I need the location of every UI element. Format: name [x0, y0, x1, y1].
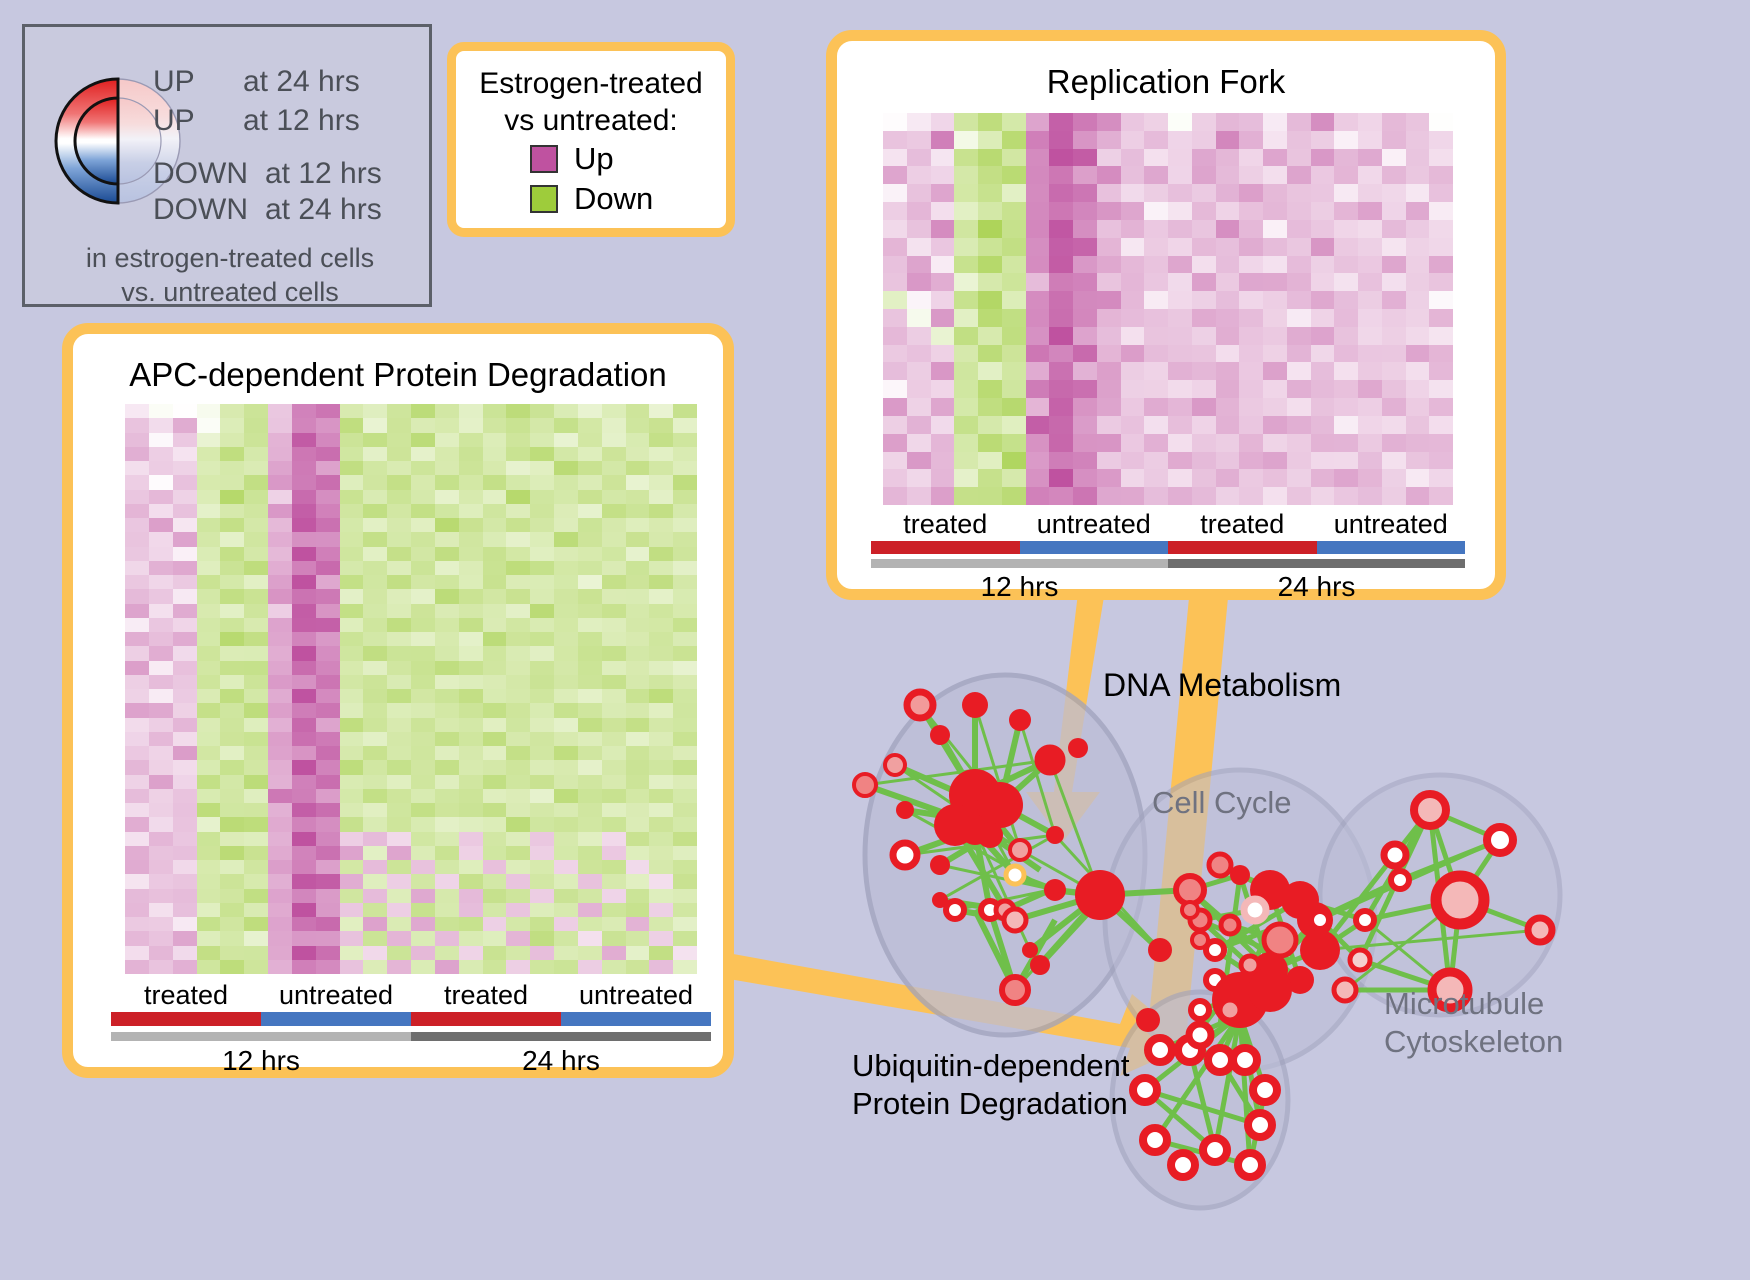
- heatmap-cell: [649, 931, 673, 945]
- heatmap-cell: [1311, 362, 1335, 380]
- heatmap-cell: [1263, 309, 1287, 327]
- heatmap-cell: [435, 703, 459, 717]
- heatmap-cell: [649, 575, 673, 589]
- heatmap-cell: [1073, 362, 1097, 380]
- heatmap-cell: [931, 291, 955, 309]
- heatmap-cell: [530, 931, 554, 945]
- heatmap-cell: [483, 703, 507, 717]
- heatmap-cell: [125, 846, 149, 860]
- heatmap-cell: [292, 547, 316, 561]
- heatmap-cell: [363, 832, 387, 846]
- heatmap-cell: [1287, 398, 1311, 416]
- heatmap-cell: [626, 689, 650, 703]
- heatmap-cell: [220, 618, 244, 632]
- heatmap-cell: [1239, 487, 1263, 505]
- heatmap-cell: [907, 327, 931, 345]
- heatmap-cell: [316, 418, 340, 432]
- heatmap-cell: [483, 760, 507, 774]
- heatmap-cell: [363, 846, 387, 860]
- heatmap-cell: [149, 917, 173, 931]
- heatmap-cell: [435, 618, 459, 632]
- heatmap-cell: [125, 589, 149, 603]
- heatmap-cell: [483, 832, 507, 846]
- heatmap-cell: [125, 404, 149, 418]
- heatmap-cell: [244, 646, 268, 660]
- colorwheel-legend-box: UP at 24 hrs UP at 12 hrs DOWN at 12 hrs…: [22, 24, 432, 307]
- heatmap-cell: [530, 561, 554, 575]
- heatmap-cell: [459, 532, 483, 546]
- heatmap-cell: [125, 760, 149, 774]
- heatmap-cell: [1097, 416, 1121, 434]
- heatmap-cell: [1026, 345, 1050, 363]
- heatmap-cell: [554, 404, 578, 418]
- heatmap-cell: [1144, 487, 1168, 505]
- heatmap-cell: [1026, 487, 1050, 505]
- heatmap-cell: [1239, 291, 1263, 309]
- heatmap-cell: [626, 903, 650, 917]
- heatmap-cell: [649, 746, 673, 760]
- heatmap-cell: [459, 846, 483, 860]
- heatmap-cell: [1358, 362, 1382, 380]
- heatmap-cell: [506, 832, 530, 846]
- heatmap-cell: [626, 931, 650, 945]
- heatmap-cell: [578, 746, 602, 760]
- heatmap-cell: [530, 832, 554, 846]
- heatmap-cell: [1002, 380, 1026, 398]
- heatmap-cell: [483, 661, 507, 675]
- heatmap-cell: [1049, 113, 1073, 131]
- heatmap-cell: [1239, 345, 1263, 363]
- heatmap-cell: [340, 433, 364, 447]
- heatmap-cell: [1311, 327, 1335, 345]
- heatmap-cell: [1192, 220, 1216, 238]
- heatmap-cell: [220, 675, 244, 689]
- heatmap-cell: [883, 184, 907, 202]
- heatmap-cell: [673, 532, 697, 546]
- heatmap-cell: [931, 238, 955, 256]
- heatmap-cell: [673, 547, 697, 561]
- heatmap-cell: [1073, 469, 1097, 487]
- heatmap-cell: [292, 689, 316, 703]
- heatmap-cell: [316, 461, 340, 475]
- heatmap-cell: [1097, 291, 1121, 309]
- heatmap-cell: [1026, 380, 1050, 398]
- heatmap-cell: [1429, 256, 1453, 274]
- heatmap-cell: [673, 775, 697, 789]
- heatmap-cell: [411, 960, 435, 974]
- heatmap-cell: [220, 746, 244, 760]
- heatmap-cell: [1049, 327, 1073, 345]
- heatmap-cell: [149, 604, 173, 618]
- heatmap-cell: [907, 416, 931, 434]
- heatmap-cell: [1263, 273, 1287, 291]
- heatmap-cell: [1121, 166, 1145, 184]
- heatmap-cell: [292, 675, 316, 689]
- heatmap-cell: [1311, 273, 1335, 291]
- heatmap-cell: [435, 675, 459, 689]
- heatmap-cell: [387, 461, 411, 475]
- heatmap-cell: [363, 775, 387, 789]
- heatmap-cell: [340, 846, 364, 860]
- heatmap-cell: [411, 418, 435, 432]
- heatmap-cell: [459, 589, 483, 603]
- heatmap-cell: [173, 946, 197, 960]
- heatmap-cell: [1002, 131, 1026, 149]
- heatmap-cell: [1429, 184, 1453, 202]
- heatmap-cell: [197, 404, 221, 418]
- heatmap-cell: [1073, 238, 1097, 256]
- heatmap-cell: [125, 718, 149, 732]
- heatmap-cell: [649, 675, 673, 689]
- heatmap-cell: [149, 903, 173, 917]
- heatmap-cell: [125, 903, 149, 917]
- heatmap-cell: [197, 832, 221, 846]
- heatmap-cell: [125, 817, 149, 831]
- heatmap-cell: [363, 461, 387, 475]
- heatmap-cell: [1192, 131, 1216, 149]
- heatmap-cell: [268, 518, 292, 532]
- heatmap-cell: [435, 931, 459, 945]
- heatmap-cell: [506, 889, 530, 903]
- heatmap-cell: [1097, 149, 1121, 167]
- heatmap-cell: [1002, 434, 1026, 452]
- heatmap-cell: [1121, 469, 1145, 487]
- heatmap-cell: [1121, 202, 1145, 220]
- heatmap-cell: [292, 789, 316, 803]
- heatmap-cell: [626, 475, 650, 489]
- heatmap-cell: [411, 561, 435, 575]
- heatmap-cell: [1168, 380, 1192, 398]
- heatmap-cell: [268, 404, 292, 418]
- time-labels-replication: 12 hrs 24 hrs: [871, 572, 1465, 602]
- heatmap-cell: [1239, 184, 1263, 202]
- heatmap-cell: [459, 903, 483, 917]
- heatmap-cell: [1073, 434, 1097, 452]
- heatmap-cell: [578, 433, 602, 447]
- heatmap-cell: [554, 604, 578, 618]
- heatmap-cell: [340, 889, 364, 903]
- heatmap-cell: [1406, 291, 1430, 309]
- heatmap-cell: [220, 846, 244, 860]
- heatmap-cell: [244, 518, 268, 532]
- heatmap-cell: [1406, 434, 1430, 452]
- heatmap-cell: [673, 646, 697, 660]
- heatmap-cell: [626, 718, 650, 732]
- heatmap-cell: [602, 846, 626, 860]
- heatmap-cell: [602, 475, 626, 489]
- heatmap-cell: [883, 273, 907, 291]
- heatmap-cell: [1121, 220, 1145, 238]
- heatmap-cell: [1429, 362, 1453, 380]
- heatmap-cell: [1097, 398, 1121, 416]
- heatmap-cell: [506, 732, 530, 746]
- heatmap-cell: [954, 184, 978, 202]
- heatmap-cell: [578, 618, 602, 632]
- heatmap-cell: [506, 946, 530, 960]
- heatmap-cell: [1049, 345, 1073, 363]
- heatmap-cell: [1192, 113, 1216, 131]
- heatmap-cell: [578, 475, 602, 489]
- heatmap-cell: [411, 404, 435, 418]
- heatmap-cell: [978, 149, 1002, 167]
- heatmap-cell: [459, 746, 483, 760]
- heatmap-cell: [506, 675, 530, 689]
- heatmap-cell: [649, 718, 673, 732]
- heatmap-cell: [1239, 434, 1263, 452]
- heatmap-cell: [363, 689, 387, 703]
- heatmap-cell: [316, 532, 340, 546]
- cluster-label-ubiquitin-degradation: Ubiquitin-dependent Protein Degradation: [852, 1047, 1130, 1123]
- heatmap-cell: [459, 504, 483, 518]
- heatmap-cell: [459, 418, 483, 432]
- heatmap-cell: [506, 931, 530, 945]
- heatmap-cell: [1287, 380, 1311, 398]
- heatmap-cell: [435, 490, 459, 504]
- heatmap-cell: [435, 817, 459, 831]
- heatmap-cell: [649, 789, 673, 803]
- heatmap-cell: [363, 604, 387, 618]
- heatmap-cell: [1263, 202, 1287, 220]
- heatmap-cell: [340, 632, 364, 646]
- heatmap-cell: [197, 618, 221, 632]
- heatmap-cell: [931, 487, 955, 505]
- heatmap-cell: [673, 632, 697, 646]
- heatmap-cell: [1168, 345, 1192, 363]
- heatmap-cell: [149, 817, 173, 831]
- heatmap-cell: [125, 618, 149, 632]
- heatmap-cell: [268, 946, 292, 960]
- heatmap-replication-fork: [883, 113, 1453, 505]
- heatmap-cell: [506, 917, 530, 931]
- heatmap-cell: [292, 646, 316, 660]
- heatmap-cell: [1049, 380, 1073, 398]
- heatmap-cell: [1121, 345, 1145, 363]
- heatmap-cell: [1026, 273, 1050, 291]
- heatmap-cell: [506, 646, 530, 660]
- heatmap-cell: [316, 604, 340, 618]
- heatmap-cell: [649, 561, 673, 575]
- heatmap-cell: [1287, 487, 1311, 505]
- heatmap-cell: [1311, 309, 1335, 327]
- heatmap-cell: [1311, 149, 1335, 167]
- heatmap-cell: [1216, 469, 1240, 487]
- heatmap-cell: [125, 775, 149, 789]
- heatmap-cell: [1026, 149, 1050, 167]
- heatmap-cell: [1263, 256, 1287, 274]
- heatmap-cell: [149, 946, 173, 960]
- cw-direction-2: DOWN: [153, 157, 248, 191]
- heatmap-cell: [173, 874, 197, 888]
- time-label-24: 24 hrs: [1168, 572, 1465, 602]
- heatmap-cell: [363, 646, 387, 660]
- heatmap-cell: [292, 575, 316, 589]
- heatmap-cell: [268, 418, 292, 432]
- heatmap-cell: [602, 689, 626, 703]
- heatmap-cell: [244, 832, 268, 846]
- heatmap-cell: [954, 398, 978, 416]
- heatmap-cell: [411, 832, 435, 846]
- heatmap-cell: [673, 946, 697, 960]
- heatmap-cell: [483, 504, 507, 518]
- heatmap-cell: [1334, 380, 1358, 398]
- heatmap-cell: [578, 917, 602, 931]
- heatmap-cell: [197, 575, 221, 589]
- heatmap-cell: [363, 475, 387, 489]
- heatmap-cell: [340, 946, 364, 960]
- heatmap-cell: [125, 561, 149, 575]
- heatmap-cell: [1382, 380, 1406, 398]
- heatmap-cell: [1121, 416, 1145, 434]
- heatmap-cell: [197, 632, 221, 646]
- heatmap-cell: [1121, 362, 1145, 380]
- heatmap-cell: [483, 889, 507, 903]
- heatmap-cell: [578, 960, 602, 974]
- heatmap-cell: [1382, 131, 1406, 149]
- heatmap-cell: [1263, 398, 1287, 416]
- heatmap-cell: [149, 561, 173, 575]
- heatmap-cell: [1192, 309, 1216, 327]
- heatmap-cell: [483, 632, 507, 646]
- heatmap-cell: [292, 589, 316, 603]
- heatmap-cell: [1263, 291, 1287, 309]
- heatmap-cell: [1192, 398, 1216, 416]
- heatmap-cell: [954, 166, 978, 184]
- heatmap-cell: [673, 718, 697, 732]
- heatmap-cell: [435, 775, 459, 789]
- heatmap-cell: [387, 547, 411, 561]
- heatmap-cell: [506, 433, 530, 447]
- heatmap-cell: [978, 256, 1002, 274]
- heatmap-cell: [649, 960, 673, 974]
- heatmap-cell: [1144, 202, 1168, 220]
- heatmap-cell: [1121, 238, 1145, 256]
- bar-treated-12: [871, 541, 1020, 554]
- heatmap-cell: [316, 433, 340, 447]
- heatmap-cell: [149, 746, 173, 760]
- heatmap-cell: [363, 561, 387, 575]
- group-label-3: untreated: [1317, 509, 1466, 539]
- heatmap-cell: [626, 817, 650, 831]
- heatmap-cell: [530, 817, 554, 831]
- heatmap-cell: [530, 746, 554, 760]
- heatmap-cell: [197, 718, 221, 732]
- heatmap-cell: [244, 889, 268, 903]
- heatmap-cell: [244, 732, 268, 746]
- heatmap-cell: [459, 632, 483, 646]
- heatmap-cell: [1002, 327, 1026, 345]
- heatmap-cell: [931, 345, 955, 363]
- heatmap-cell: [268, 703, 292, 717]
- heatmap-cell: [978, 166, 1002, 184]
- heatmap-cell: [316, 860, 340, 874]
- heatmap-cell: [1406, 452, 1430, 470]
- cw-time-3: at 24 hrs: [265, 193, 382, 227]
- heatmap-cell: [411, 746, 435, 760]
- cw-direction-0: UP: [153, 65, 195, 99]
- heatmap-cell: [1263, 166, 1287, 184]
- heatmap-cell: [197, 817, 221, 831]
- bar-time-12: [111, 1032, 411, 1041]
- heatmap-cell: [530, 433, 554, 447]
- heatmap-cell: [483, 874, 507, 888]
- heatmap-cell: [1216, 113, 1240, 131]
- heatmap-cell: [292, 418, 316, 432]
- heatmap-cell: [1358, 149, 1382, 167]
- heatmap-cell: [554, 518, 578, 532]
- heatmap-cell: [244, 490, 268, 504]
- heatmap-cell: [626, 418, 650, 432]
- heatmap-cell: [673, 832, 697, 846]
- heatmap-cell: [435, 946, 459, 960]
- heatmap-cell: [1263, 238, 1287, 256]
- heatmap-cell: [197, 447, 221, 461]
- heatmap-cell: [602, 532, 626, 546]
- heatmap-cell: [1073, 487, 1097, 505]
- heatmap-cell: [316, 846, 340, 860]
- heatmap-cell: [931, 469, 955, 487]
- heatmap-cell: [907, 362, 931, 380]
- heatmap-cell: [149, 518, 173, 532]
- time-labels-apc: 12 hrs 24 hrs: [111, 1046, 711, 1076]
- heatmap-cell: [173, 618, 197, 632]
- heatmap-cell: [1358, 256, 1382, 274]
- heatmap-cell: [1073, 309, 1097, 327]
- heatmap-cell: [1358, 220, 1382, 238]
- heatmap-cell: [292, 632, 316, 646]
- heatmap-cell: [387, 860, 411, 874]
- heatmap-cell: [602, 418, 626, 432]
- heatmap-cell: [1334, 291, 1358, 309]
- heatmap-cell: [1382, 452, 1406, 470]
- heatmap-cell: [554, 418, 578, 432]
- heatmap-cell: [649, 689, 673, 703]
- heatmap-cell: [578, 575, 602, 589]
- heatmap-cell: [1002, 345, 1026, 363]
- heatmap-cell: [602, 889, 626, 903]
- heatmap-cell: [626, 803, 650, 817]
- heatmap-cell: [316, 661, 340, 675]
- heatmap-cell: [459, 732, 483, 746]
- heatmap-cell: [483, 860, 507, 874]
- heatmap-cell: [506, 846, 530, 860]
- heatmap-cell: [411, 703, 435, 717]
- heatmap-cell: [173, 789, 197, 803]
- heatmap-cell: [954, 487, 978, 505]
- heatmap-cell: [554, 433, 578, 447]
- heatmap-cell: [435, 518, 459, 532]
- heatmap-cell: [1406, 487, 1430, 505]
- heatmap-cell: [530, 917, 554, 931]
- heatmap-cell: [244, 703, 268, 717]
- heatmap-cell: [340, 675, 364, 689]
- group-label-2: treated: [411, 980, 561, 1010]
- heatmap-cell: [673, 661, 697, 675]
- heatmap-cell: [1144, 149, 1168, 167]
- heatmap-cell: [387, 960, 411, 974]
- heatmap-cell: [340, 518, 364, 532]
- heatmap-cell: [1144, 327, 1168, 345]
- heatmap-cell: [387, 475, 411, 489]
- heatmap-cell: [978, 202, 1002, 220]
- heatmap-cell: [459, 760, 483, 774]
- heatmap-cell: [459, 817, 483, 831]
- heatmap-cell: [459, 917, 483, 931]
- heatmap-cell: [1002, 398, 1026, 416]
- heatmap-cell: [125, 917, 149, 931]
- group-labels-replication: treated untreated treated untreated: [871, 509, 1465, 539]
- heatmap-cell: [1406, 362, 1430, 380]
- treatment-bar-replication: [871, 541, 1465, 554]
